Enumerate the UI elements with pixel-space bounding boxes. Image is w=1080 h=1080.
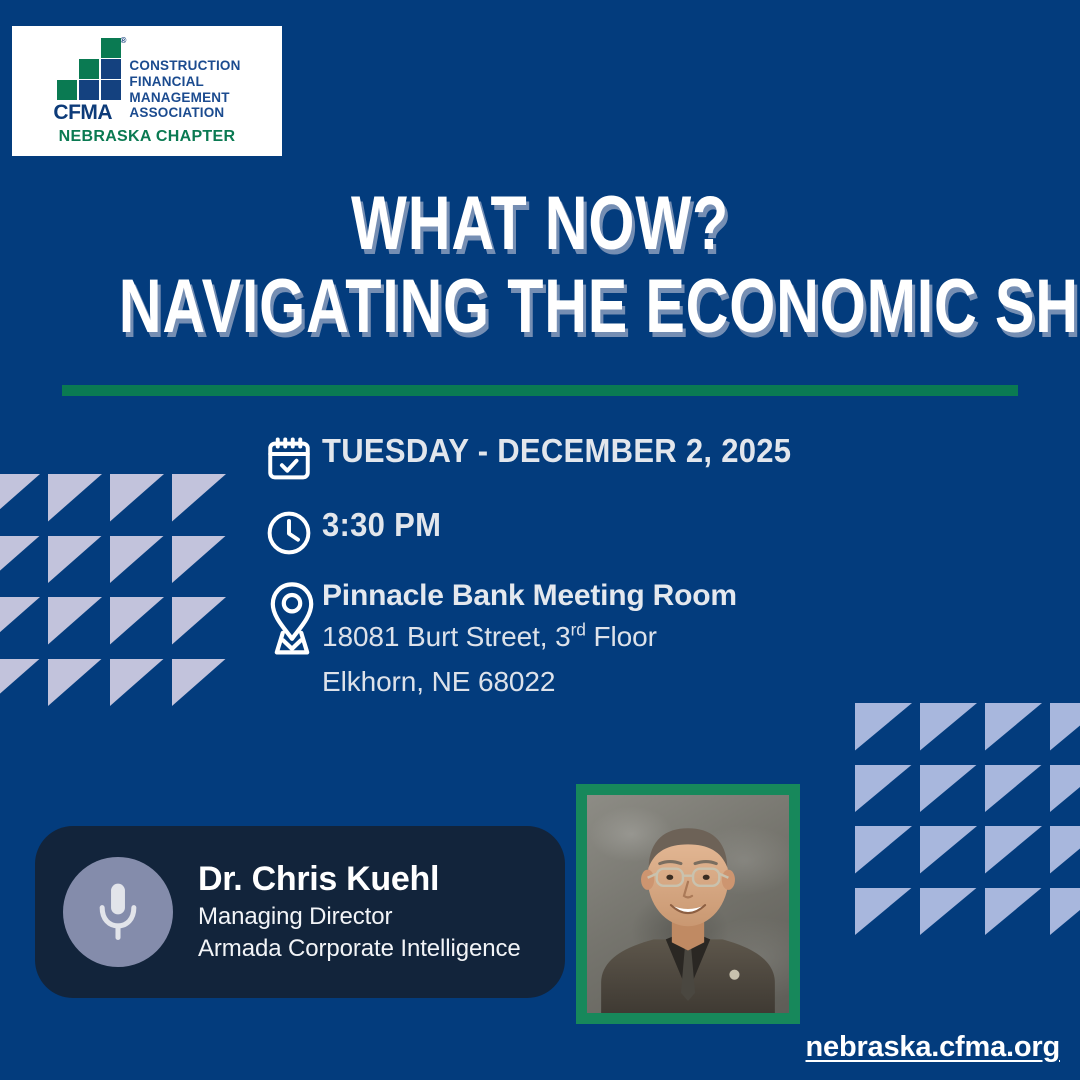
speaker-company: Armada Corporate Intelligence bbox=[198, 933, 521, 965]
speaker-photo-frame bbox=[576, 784, 800, 1024]
speaker-info: Dr. Chris Kuehl Managing Director Armada… bbox=[198, 859, 521, 964]
cfma-blocks-icon: ® bbox=[53, 38, 121, 100]
clock-icon bbox=[264, 506, 322, 558]
event-details: TUESDAY - DECEMBER 2, 2025 3:30 PM bbox=[264, 432, 821, 705]
logo-line-construction: CONSTRUCTION bbox=[129, 58, 240, 74]
headline-line-1: WHAT NOW? bbox=[119, 183, 961, 265]
detail-row-location: Pinnacle Bank Meeting Room 18081 Burt St… bbox=[264, 578, 821, 705]
speaker-title: Managing Director bbox=[198, 901, 521, 933]
avatar bbox=[63, 857, 173, 967]
detail-row-date: TUESDAY - DECEMBER 2, 2025 bbox=[264, 432, 821, 484]
logo-line-financial: FINANCIAL bbox=[129, 74, 240, 90]
event-date: TUESDAY - DECEMBER 2, 2025 bbox=[322, 432, 791, 470]
registered-mark: ® bbox=[121, 36, 127, 45]
website-link[interactable]: nebraska.cfma.org bbox=[806, 1031, 1061, 1064]
detail-text-time: 3:30 PM bbox=[322, 506, 449, 544]
page-title: WHAT NOW? NAVIGATING THE ECONOMIC SHIFTS bbox=[0, 183, 1080, 349]
logo-top-row: ® CFMA CONSTRUCTION FINANCIAL MANAGEMENT… bbox=[53, 38, 240, 121]
event-time: 3:30 PM bbox=[322, 506, 441, 544]
headline-line-2: NAVIGATING THE ECONOMIC SHIFTS bbox=[119, 265, 961, 349]
venue-street-address: 18081 Burt Street, 3rd Floor bbox=[322, 614, 737, 659]
logo-line-association: ASSOCIATION bbox=[129, 105, 240, 121]
detail-text-location: Pinnacle Bank Meeting Room 18081 Burt St… bbox=[322, 578, 737, 705]
map-pin-icon bbox=[264, 578, 322, 658]
speaker-card: Dr. Chris Kuehl Managing Director Armada… bbox=[35, 826, 565, 998]
calendar-check-icon bbox=[264, 432, 322, 484]
cfma-logo: ® CFMA CONSTRUCTION FINANCIAL MANAGEMENT… bbox=[12, 26, 282, 156]
detail-row-time: 3:30 PM bbox=[264, 506, 821, 558]
address-floor: Floor bbox=[586, 621, 657, 652]
portrait-illustration bbox=[587, 795, 789, 1013]
address-street: 18081 Burt Street, 3 bbox=[322, 621, 571, 652]
logo-text-lines: CONSTRUCTION FINANCIAL MANAGEMENT ASSOCI… bbox=[129, 58, 240, 121]
logo-line-management: MANAGEMENT bbox=[129, 90, 240, 106]
logo-wordmark: CFMA bbox=[53, 102, 112, 123]
venue-city-state-zip: Elkhorn, NE 68022 bbox=[322, 659, 737, 704]
microphone-icon bbox=[89, 876, 147, 948]
detail-text-date: TUESDAY - DECEMBER 2, 2025 bbox=[322, 432, 821, 470]
green-divider bbox=[62, 385, 1018, 396]
decorative-triangle-pattern-right bbox=[855, 703, 1080, 935]
speaker-photo bbox=[587, 795, 789, 1013]
address-ordinal: rd bbox=[571, 620, 586, 640]
venue-name: Pinnacle Bank Meeting Room bbox=[322, 578, 737, 614]
logo-chapter-label: NEBRASKA CHAPTER bbox=[59, 128, 236, 146]
event-flyer: ® CFMA CONSTRUCTION FINANCIAL MANAGEMENT… bbox=[0, 0, 1080, 1080]
speaker-name: Dr. Chris Kuehl bbox=[198, 859, 521, 900]
decorative-triangle-pattern-left bbox=[0, 474, 226, 706]
